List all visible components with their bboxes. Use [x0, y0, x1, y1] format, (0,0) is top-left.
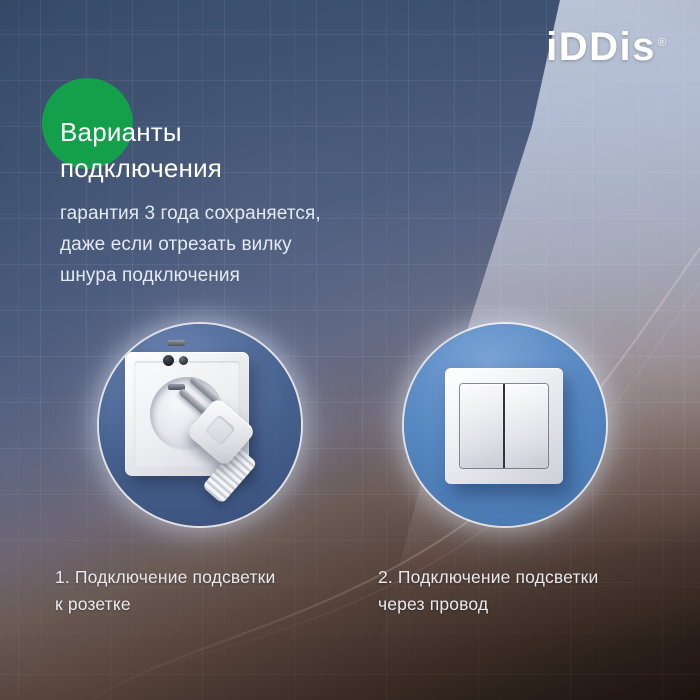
page-title: Варианты подключения	[60, 115, 480, 186]
option-1-caption: 1. Подключение подсветки к розетке	[55, 564, 365, 619]
brand-logo-text: iDDis	[546, 25, 656, 69]
switch-rocker-left	[460, 384, 505, 468]
socket-earth-clip-top	[168, 340, 185, 346]
promo-banner: iDDis® Варианты подключения гарантия 3 г…	[0, 0, 700, 700]
page-subtitle: гарантия 3 года сохраняется, даже если о…	[60, 199, 490, 291]
option-1-image	[99, 324, 301, 526]
switch-rocker-group	[460, 384, 548, 468]
switch-wall-background	[404, 324, 606, 526]
socket-pin-hole-right	[179, 356, 188, 365]
socket-pin-hole-left	[163, 355, 174, 366]
switch-rocker-right	[505, 384, 548, 468]
registered-trademark-icon: ®	[658, 37, 666, 49]
option-2-image	[404, 324, 606, 526]
brand-logo: iDDis®	[546, 27, 666, 67]
option-2-caption: 2. Подключение подсветки через провод	[378, 564, 688, 619]
socket-wall-background	[99, 324, 301, 526]
